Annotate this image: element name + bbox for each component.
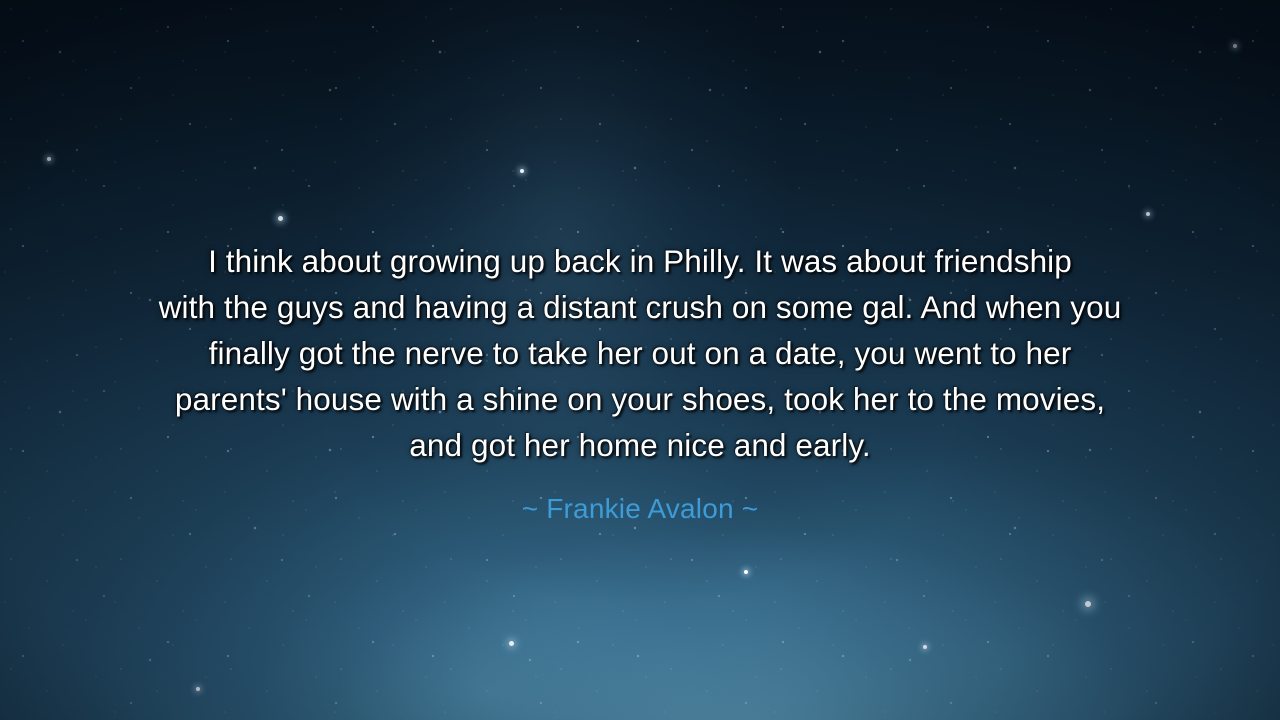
quote-card: I think about growing up back in Philly.… (0, 0, 1280, 720)
quote-block: I think about growing up back in Philly.… (0, 238, 1280, 526)
quote-text: I think about growing up back in Philly.… (64, 238, 1216, 468)
quote-attribution: ~ Frankie Avalon ~ (64, 468, 1216, 526)
